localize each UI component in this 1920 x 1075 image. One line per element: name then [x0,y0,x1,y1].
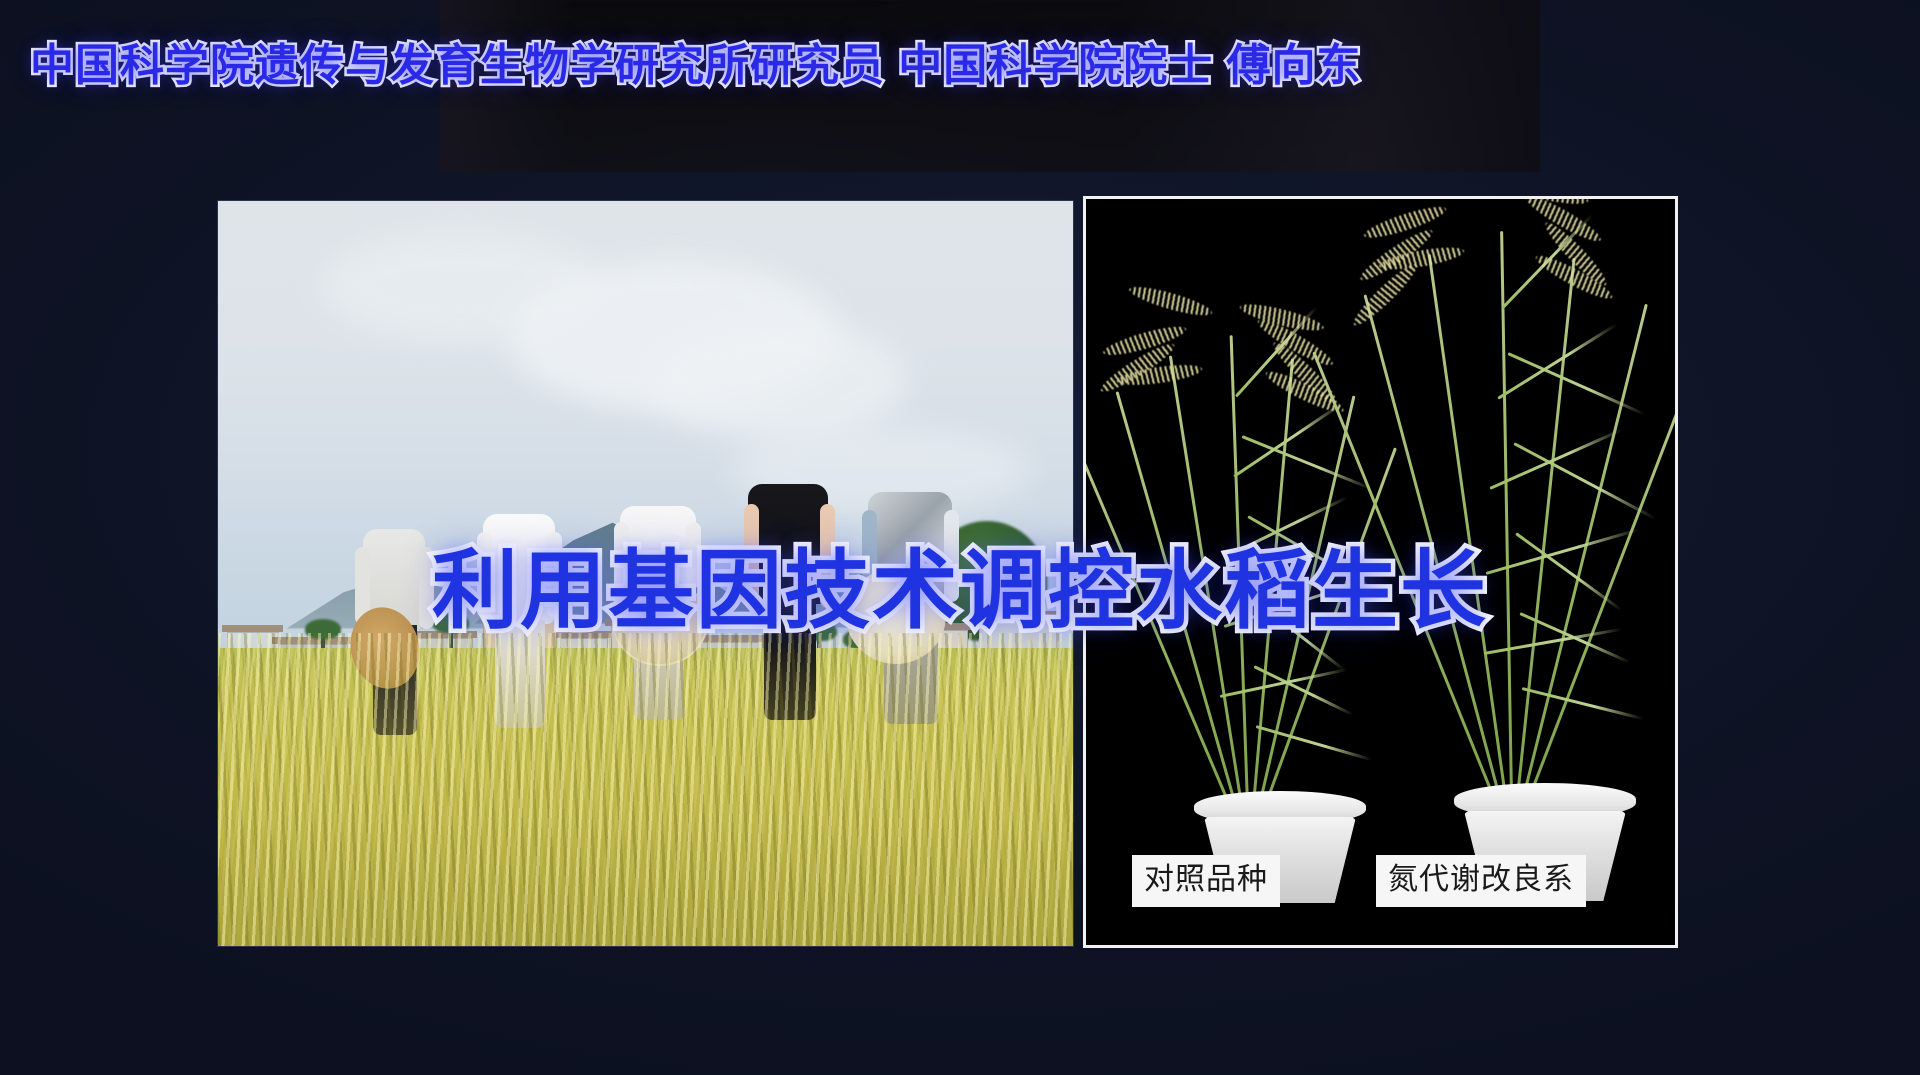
video-frame: 中国科学院遗传与发育生物学研究所研究员 中国科学院院士 傅向东 [0,0,1920,1075]
rice-foreground [218,633,1073,946]
speaker-title: 中国科学院遗传与发育生物学研究所研究员 中国科学院院士 傅向东 [30,40,1361,92]
subtitle-overlay: 利用基因技术调控水稻生长 [0,520,1920,645]
label-control-variety: 对照品种 [1132,855,1280,907]
plant-improved [1376,196,1646,797]
label-improved-line: 氮代谢改良系 [1376,855,1586,907]
cloud [646,320,906,440]
cloud [321,231,601,341]
